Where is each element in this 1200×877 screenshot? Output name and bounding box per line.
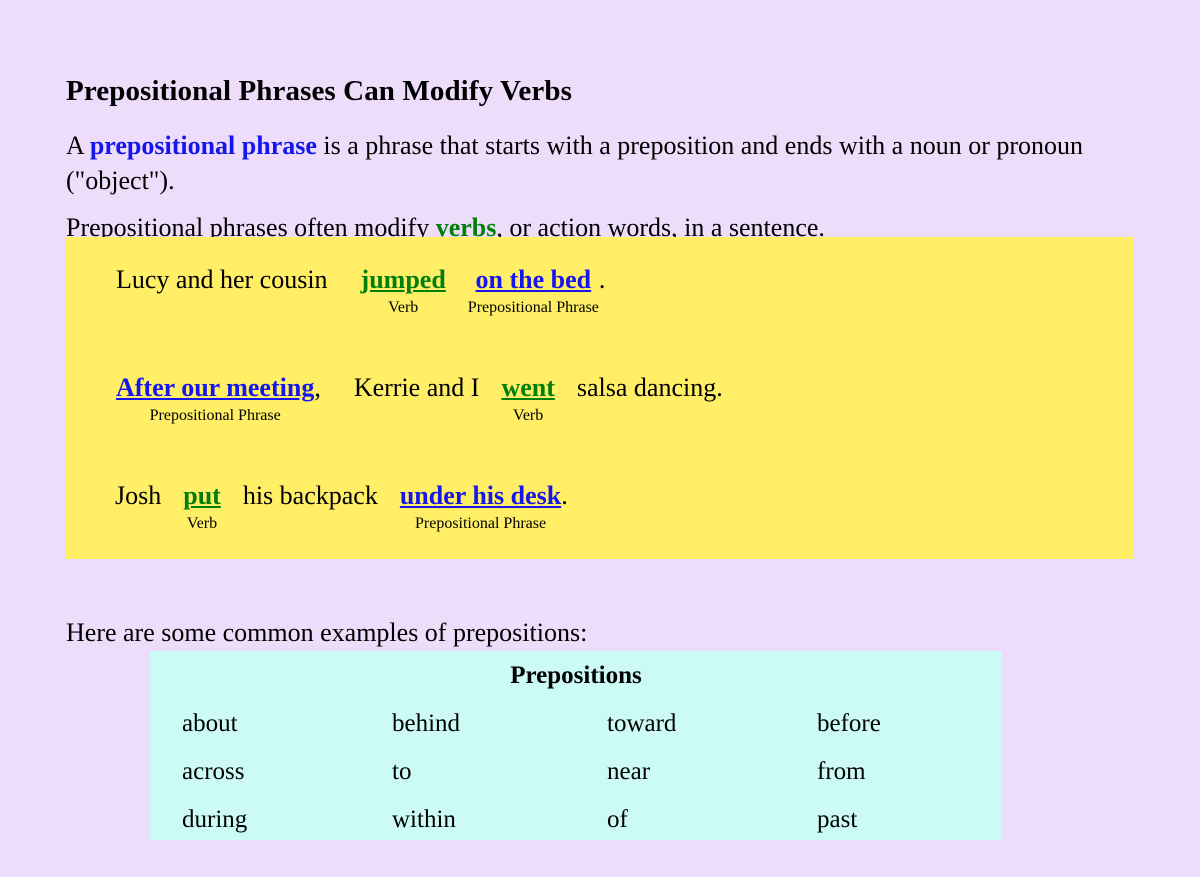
- prepositions-table-caption: Prepositions: [150, 651, 1002, 691]
- sentence-1-period: .: [599, 265, 606, 295]
- prepositional-phrase-word: on the bed: [476, 267, 592, 293]
- example-sentence-2: After our meeting Prepositional Phrase ,…: [116, 373, 723, 424]
- preposition-cell: from: [817, 748, 1034, 796]
- preposition-cell: past: [817, 796, 1034, 844]
- prepositions-grid: about behind toward before across to nea…: [150, 700, 1002, 844]
- preposition-cell: near: [607, 748, 817, 796]
- example-row: After our meeting Prepositional Phrase ,…: [66, 373, 1133, 439]
- examples-box: Lucy and her cousin jumped Verb on the b…: [66, 237, 1133, 559]
- example-row: Lucy and her cousin jumped Verb on the b…: [66, 265, 1133, 331]
- preposition-cell: about: [182, 700, 392, 748]
- example-sentence-1: Lucy and her cousin jumped Verb on the b…: [116, 265, 605, 316]
- sentence-2-subject: Kerrie and I: [354, 373, 480, 403]
- preposition-cell: during: [182, 796, 392, 844]
- prepositional-phrase-label: Prepositional Phrase: [468, 300, 599, 316]
- intro-paragraph: A prepositional phrase is a phrase that …: [66, 129, 1126, 198]
- sentence-3-subject: Josh: [115, 481, 161, 511]
- lesson-page: Prepositional Phrases Can Modify Verbs A…: [0, 0, 1200, 877]
- annotated-verb: put Verb: [183, 483, 221, 532]
- prepositional-phrase-label: Prepositional Phrase: [150, 408, 281, 424]
- prepositions-table: Prepositions about behind toward before …: [150, 651, 1002, 840]
- intro-text-before: A: [66, 131, 90, 160]
- annotated-prepositional-phrase: under his desk Prepositional Phrase: [400, 483, 561, 532]
- preposition-cell: within: [392, 796, 607, 844]
- preposition-cell: toward: [607, 700, 817, 748]
- term-prepositional-phrase: prepositional phrase: [90, 131, 317, 160]
- sentence-3-object: his backpack: [243, 481, 378, 511]
- verb-word: jumped: [361, 267, 446, 293]
- preposition-cell: before: [817, 700, 1034, 748]
- lead-in-text: Here are some common examples of preposi…: [66, 618, 587, 648]
- preposition-cell: behind: [392, 700, 607, 748]
- sentence-3-period: .: [561, 481, 568, 511]
- annotated-verb: jumped Verb: [361, 267, 446, 316]
- preposition-cell: across: [182, 748, 392, 796]
- example-sentence-3: Josh put Verb his backpack under his des…: [115, 481, 568, 532]
- page-title: Prepositional Phrases Can Modify Verbs: [66, 75, 572, 108]
- prepositional-phrase-label: Prepositional Phrase: [415, 516, 546, 532]
- verb-label: Verb: [388, 300, 418, 316]
- example-row: Josh put Verb his backpack under his des…: [66, 481, 1133, 547]
- verb-label: Verb: [187, 516, 217, 532]
- prepositional-phrase-word: under his desk: [400, 483, 561, 509]
- verb-word: put: [183, 483, 221, 509]
- verb-label: Verb: [513, 408, 543, 424]
- prepositional-phrase-word: After our meeting: [116, 375, 314, 401]
- preposition-cell: to: [392, 748, 607, 796]
- annotated-prepositional-phrase: After our meeting Prepositional Phrase: [116, 375, 314, 424]
- sentence-1-subject: Lucy and her cousin: [116, 265, 328, 295]
- verb-word: went: [501, 375, 554, 401]
- annotated-verb: went Verb: [501, 375, 554, 424]
- sentence-2-tail: salsa dancing.: [577, 373, 723, 403]
- sentence-2-comma: ,: [314, 373, 321, 403]
- annotated-prepositional-phrase: on the bed Prepositional Phrase: [468, 267, 599, 316]
- preposition-cell: of: [607, 796, 817, 844]
